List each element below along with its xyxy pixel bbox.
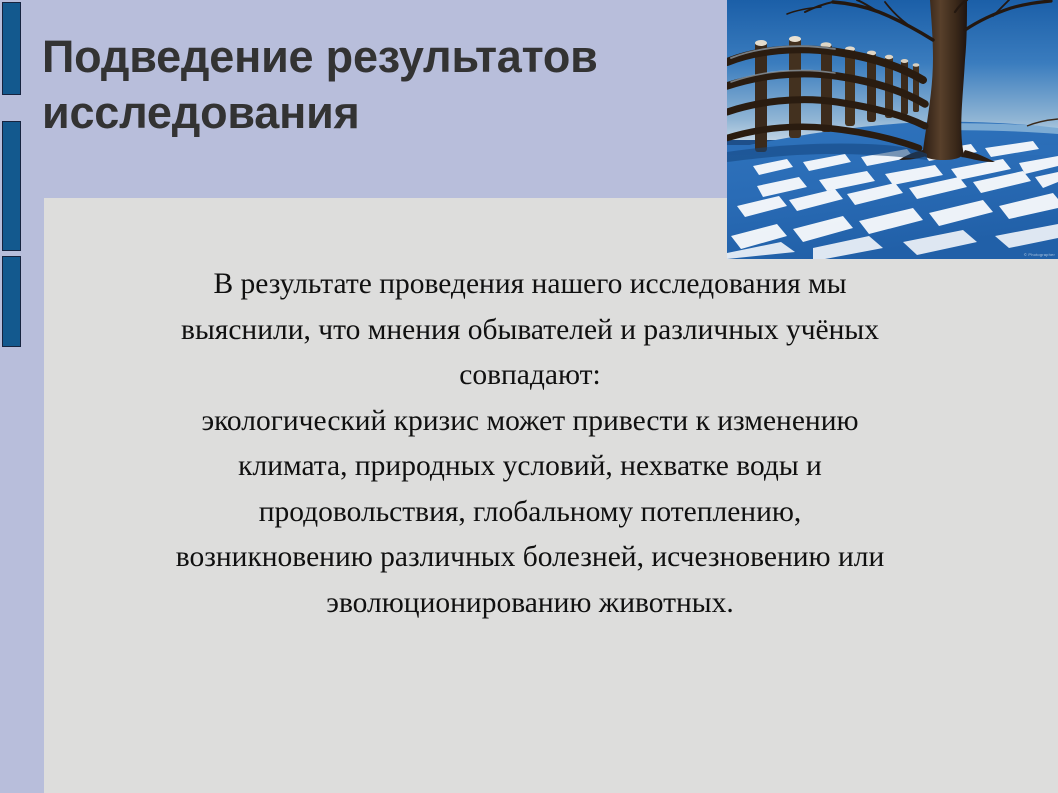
body-line-4: экологический кризис может привести к из…: [60, 399, 1000, 445]
decorative-accent-bar-1: [2, 2, 21, 95]
slide-title-line-1: Подведение результатов: [42, 29, 742, 85]
body-line-1: В результате проведения нашего исследова…: [60, 262, 1000, 308]
body-line-7: возникновению различных болезней, исчезн…: [60, 535, 1000, 581]
slide-body-text: В результате проведения нашего исследова…: [60, 262, 1000, 626]
body-line-6: продовольствия, глобальному потеплению,: [60, 490, 1000, 536]
slide-title: Подведение результатов исследования: [42, 29, 742, 141]
photo-credit: © Photographer: [1024, 252, 1055, 257]
winter-fence-snow-photo: © Photographer: [727, 0, 1058, 259]
presentation-slide: Подведение результатов исследования: [0, 0, 1058, 793]
decorative-accent-bar-2: [2, 121, 21, 251]
slide-title-line-2: исследования: [42, 85, 742, 141]
body-line-3: совпадают:: [60, 353, 1000, 399]
body-line-8: эволюционированию животных.: [60, 581, 1000, 627]
body-line-5: климата, природных условий, нехватке вод…: [60, 444, 1000, 490]
body-line-2: выяснили, что мнения обывателей и различ…: [60, 308, 1000, 354]
decorative-accent-bar-3: [2, 256, 21, 347]
slide-left-strip: [0, 0, 44, 793]
